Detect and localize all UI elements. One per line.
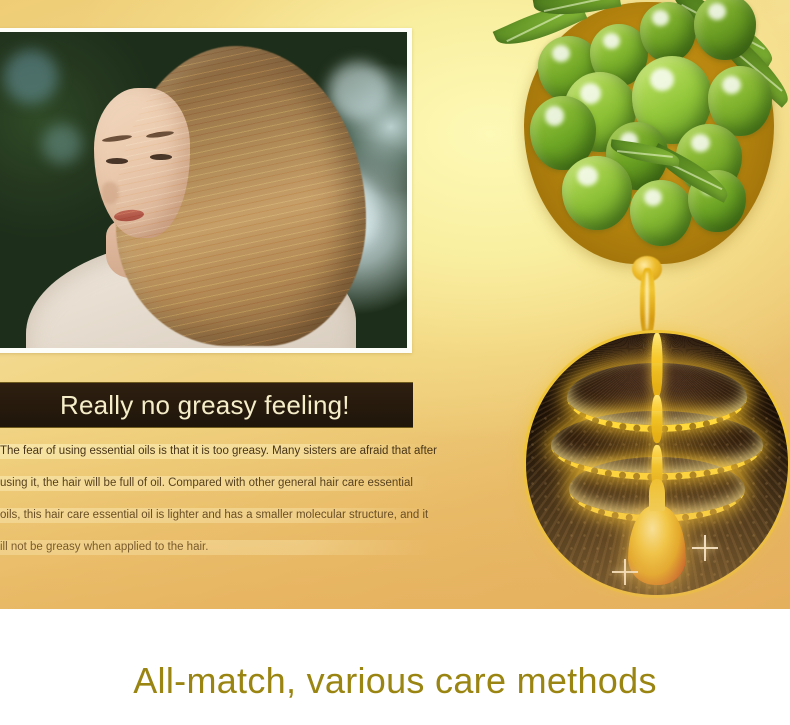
oil-drip-highlight bbox=[645, 272, 649, 330]
product-promo-page: Really no greasy feeling! The fear of us… bbox=[0, 0, 790, 725]
photo-content bbox=[0, 32, 407, 348]
body-copy-line: ill not be greasy when applied to the ha… bbox=[0, 540, 430, 555]
bottom-heading: All-match, various care methods bbox=[0, 660, 790, 702]
olive bbox=[630, 180, 692, 246]
olive-cluster-with-oil bbox=[498, 0, 790, 289]
headline-banner: Really no greasy feeling! bbox=[0, 382, 413, 428]
scalp-circle bbox=[523, 330, 790, 598]
body-copy-block: The fear of using essential oils is that… bbox=[0, 444, 430, 572]
body-copy-line: using it, the hair will be full of oil. … bbox=[0, 476, 430, 491]
scalp-oil-penetration-illustration bbox=[523, 330, 790, 602]
gold-background-panel: Really no greasy feeling! The fear of us… bbox=[0, 0, 790, 609]
bokeh-highlight bbox=[42, 124, 82, 164]
body-copy-line: oils, this hair care essential oil is li… bbox=[0, 508, 430, 523]
olive bbox=[562, 156, 632, 230]
bokeh-highlight bbox=[4, 50, 58, 104]
olive bbox=[640, 2, 696, 62]
sparkle-icon bbox=[704, 535, 706, 561]
banner-title: Really no greasy feeling! bbox=[60, 390, 350, 421]
woman-with-long-hair-photo bbox=[0, 28, 412, 353]
sparkle-icon bbox=[624, 559, 626, 585]
body-copy-line: The fear of using essential oils is that… bbox=[0, 444, 430, 459]
